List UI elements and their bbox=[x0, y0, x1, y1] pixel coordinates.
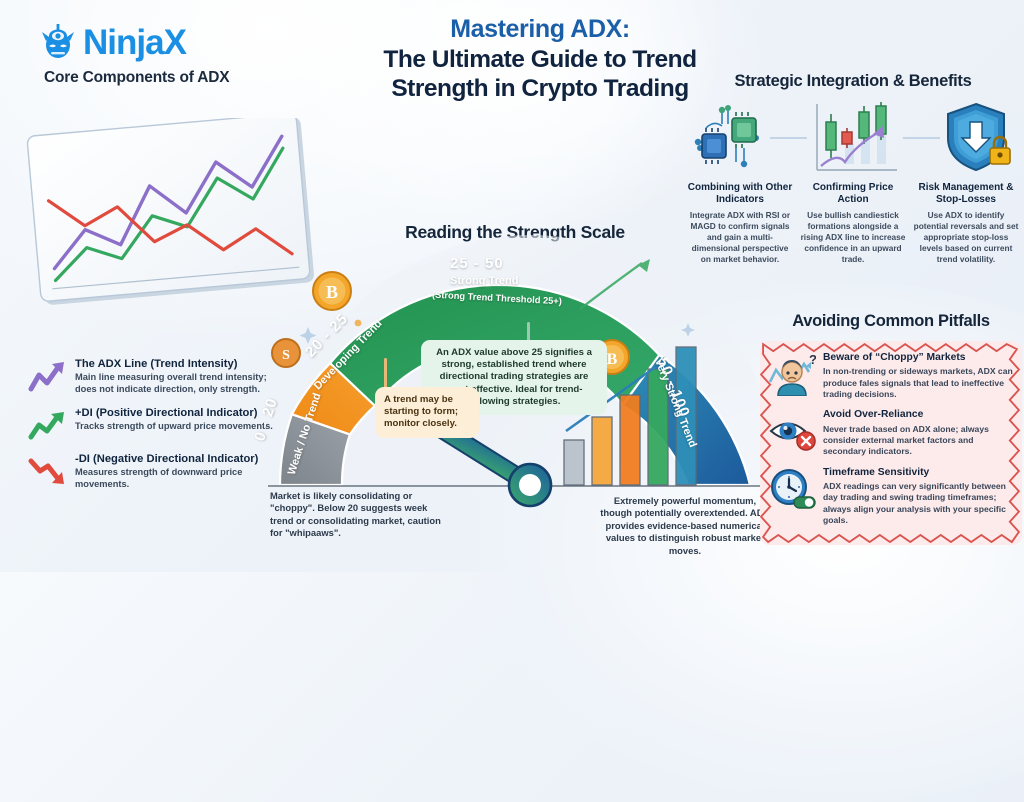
svg-text:S: S bbox=[282, 348, 290, 363]
pitfall-heading: Avoid Over-Reliance bbox=[823, 409, 1014, 421]
gauge-note-50-100: Extremely powerful momentum, though pote… bbox=[600, 495, 770, 557]
connector-line-2 bbox=[903, 137, 940, 139]
pitfall-heading: Timeframe Sensitivity bbox=[823, 467, 1014, 479]
strategic-columns: Combining with Other Indicators Integrat… bbox=[686, 182, 1020, 264]
legend-item-adx-line: The ADX Line (Trend Intensity) Main line… bbox=[28, 358, 278, 396]
bitcoin-coin-icon-left: B bbox=[313, 272, 351, 310]
legend-title: +DI (Positive Directional Indicator) bbox=[75, 407, 273, 420]
strategic-column-combining: Combining with Other Indicators Integrat… bbox=[686, 182, 794, 264]
page-title-line2: The Ultimate Guide to Trend bbox=[360, 45, 720, 75]
ninja-mask-icon bbox=[38, 22, 78, 62]
pitfall-heading: Beware of “Choppy” Markets bbox=[823, 352, 1014, 364]
gauge-label-text-25-50: Strong Trend bbox=[450, 275, 518, 287]
confused-person-icon: ? bbox=[768, 352, 816, 396]
connector-line-1 bbox=[770, 137, 807, 139]
avoiding-pitfalls-section: Avoiding Common Pitfalls ? Beware of “Ch… bbox=[760, 312, 1022, 545]
brand-subtitle: Core Components of ADX bbox=[44, 69, 318, 87]
strategic-heading: Risk Management & Stop-Losses bbox=[912, 182, 1020, 206]
brand-logo: NinjaX Core Components of ADX bbox=[38, 22, 318, 87]
page-title-line3: Strength in Crypto Trading bbox=[360, 74, 720, 104]
pitfall-item-over-reliance: Avoid Over-Reliance Never trade based on… bbox=[768, 409, 1014, 457]
pitfall-item-choppy: ? Beware of “Choppy” Markets In non-tren… bbox=[768, 352, 1014, 400]
eye-with-x-icon bbox=[768, 409, 816, 453]
strategic-icon-row bbox=[686, 99, 1020, 177]
gauge-note-0-20: Market is likely consolidating or "chopp… bbox=[270, 490, 445, 540]
legend-desc: Tracks strength of upward price movement… bbox=[75, 421, 273, 433]
brand-name: NinjaX bbox=[83, 25, 186, 60]
strategic-integration-section: Strategic Integration & Benefits bbox=[686, 72, 1020, 264]
strategic-title: Strategic Integration & Benefits bbox=[686, 72, 1020, 91]
strategic-column-risk: Risk Management & Stop-Losses Use ADX to… bbox=[912, 182, 1020, 264]
legend-desc: Main line measuring overall trend intens… bbox=[75, 372, 278, 395]
purple-up-arrow-icon bbox=[28, 359, 68, 393]
page-title: Mastering ADX: The Ultimate Guide to Tre… bbox=[360, 14, 720, 104]
adx-components-legend: The ADX Line (Trend Intensity) Main line… bbox=[28, 358, 278, 501]
callout-stem-orange bbox=[384, 358, 387, 388]
legend-title: The ADX Line (Trend Intensity) bbox=[75, 358, 278, 371]
page-title-line1: Mastering ADX: bbox=[360, 14, 720, 45]
pitfall-body: In non-trending or sideways markets, ADX… bbox=[823, 366, 1014, 400]
legend-item-plus-di: +DI (Positive Directional Indicator) Tra… bbox=[28, 407, 278, 442]
gauge-note-20-25: A trend may be starting to form; monitor… bbox=[375, 387, 479, 438]
strategic-column-confirming: Confirming Price Action Use bullish cand… bbox=[799, 182, 907, 264]
legend-desc: Measures strength of downward price move… bbox=[75, 467, 278, 490]
strategic-body: Use bullish candiestick formations along… bbox=[799, 210, 907, 264]
legend-title: -DI (Negative Directional Indicator) bbox=[75, 453, 278, 466]
ethereum-coin-icon: S bbox=[272, 339, 300, 367]
circuit-chip-icon bbox=[692, 102, 768, 174]
pitfall-item-timeframe: Timeframe Sensitivity ADX readings can v… bbox=[768, 467, 1014, 527]
red-down-arrow-icon bbox=[28, 454, 68, 488]
strategic-body: Use ADX to identify potential reversals … bbox=[912, 210, 1020, 264]
svg-text:?: ? bbox=[809, 352, 816, 367]
shield-lock-icon bbox=[942, 100, 1014, 176]
strategic-heading: Confirming Price Action bbox=[799, 182, 907, 206]
pitfall-body: Never trade based on ADX alone; always c… bbox=[823, 424, 1014, 458]
gauge-label-range-25-50: 25 - 50 bbox=[450, 255, 504, 272]
pitfalls-box: ? Beware of “Choppy” Markets In non-tren… bbox=[760, 341, 1022, 545]
strategic-body: Integrate ADX with RSI or MAGD to confir… bbox=[686, 210, 794, 264]
strategic-heading: Combining with Other Indicators bbox=[686, 182, 794, 206]
svg-text:B: B bbox=[326, 282, 338, 302]
pitfalls-title: Avoiding Common Pitfalls bbox=[760, 312, 1022, 331]
legend-item-minus-di: -DI (Negative Directional Indicator) Mea… bbox=[28, 453, 278, 491]
pitfall-body: ADX readings can very significantly betw… bbox=[823, 481, 1014, 526]
svg-text:B: B bbox=[607, 351, 618, 368]
green-up-arrow-icon bbox=[28, 408, 68, 442]
clock-toggle-icon bbox=[768, 467, 816, 511]
candlestick-chart-icon bbox=[809, 100, 901, 176]
